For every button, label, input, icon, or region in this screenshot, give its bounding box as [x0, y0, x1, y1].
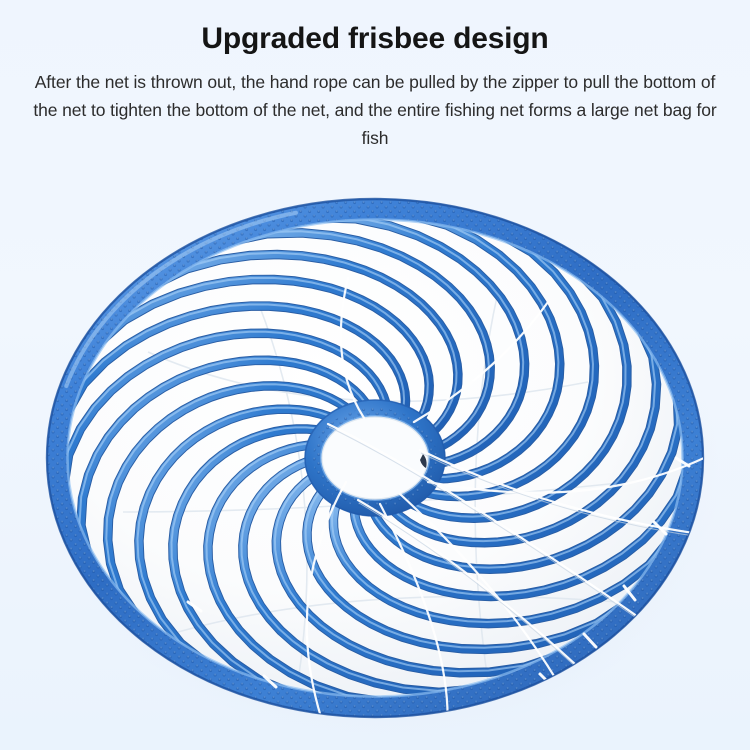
text-block: Upgraded frisbee design After the net is…: [0, 0, 750, 153]
product-image: [28, 182, 722, 734]
center-hub: [305, 400, 445, 516]
page-title: Upgraded frisbee design: [0, 20, 750, 58]
frisbee-illustration: [28, 182, 722, 734]
product-description: After the net is thrown out, the hand ro…: [30, 68, 720, 153]
product-marketing-image: Upgraded frisbee design After the net is…: [0, 0, 750, 750]
